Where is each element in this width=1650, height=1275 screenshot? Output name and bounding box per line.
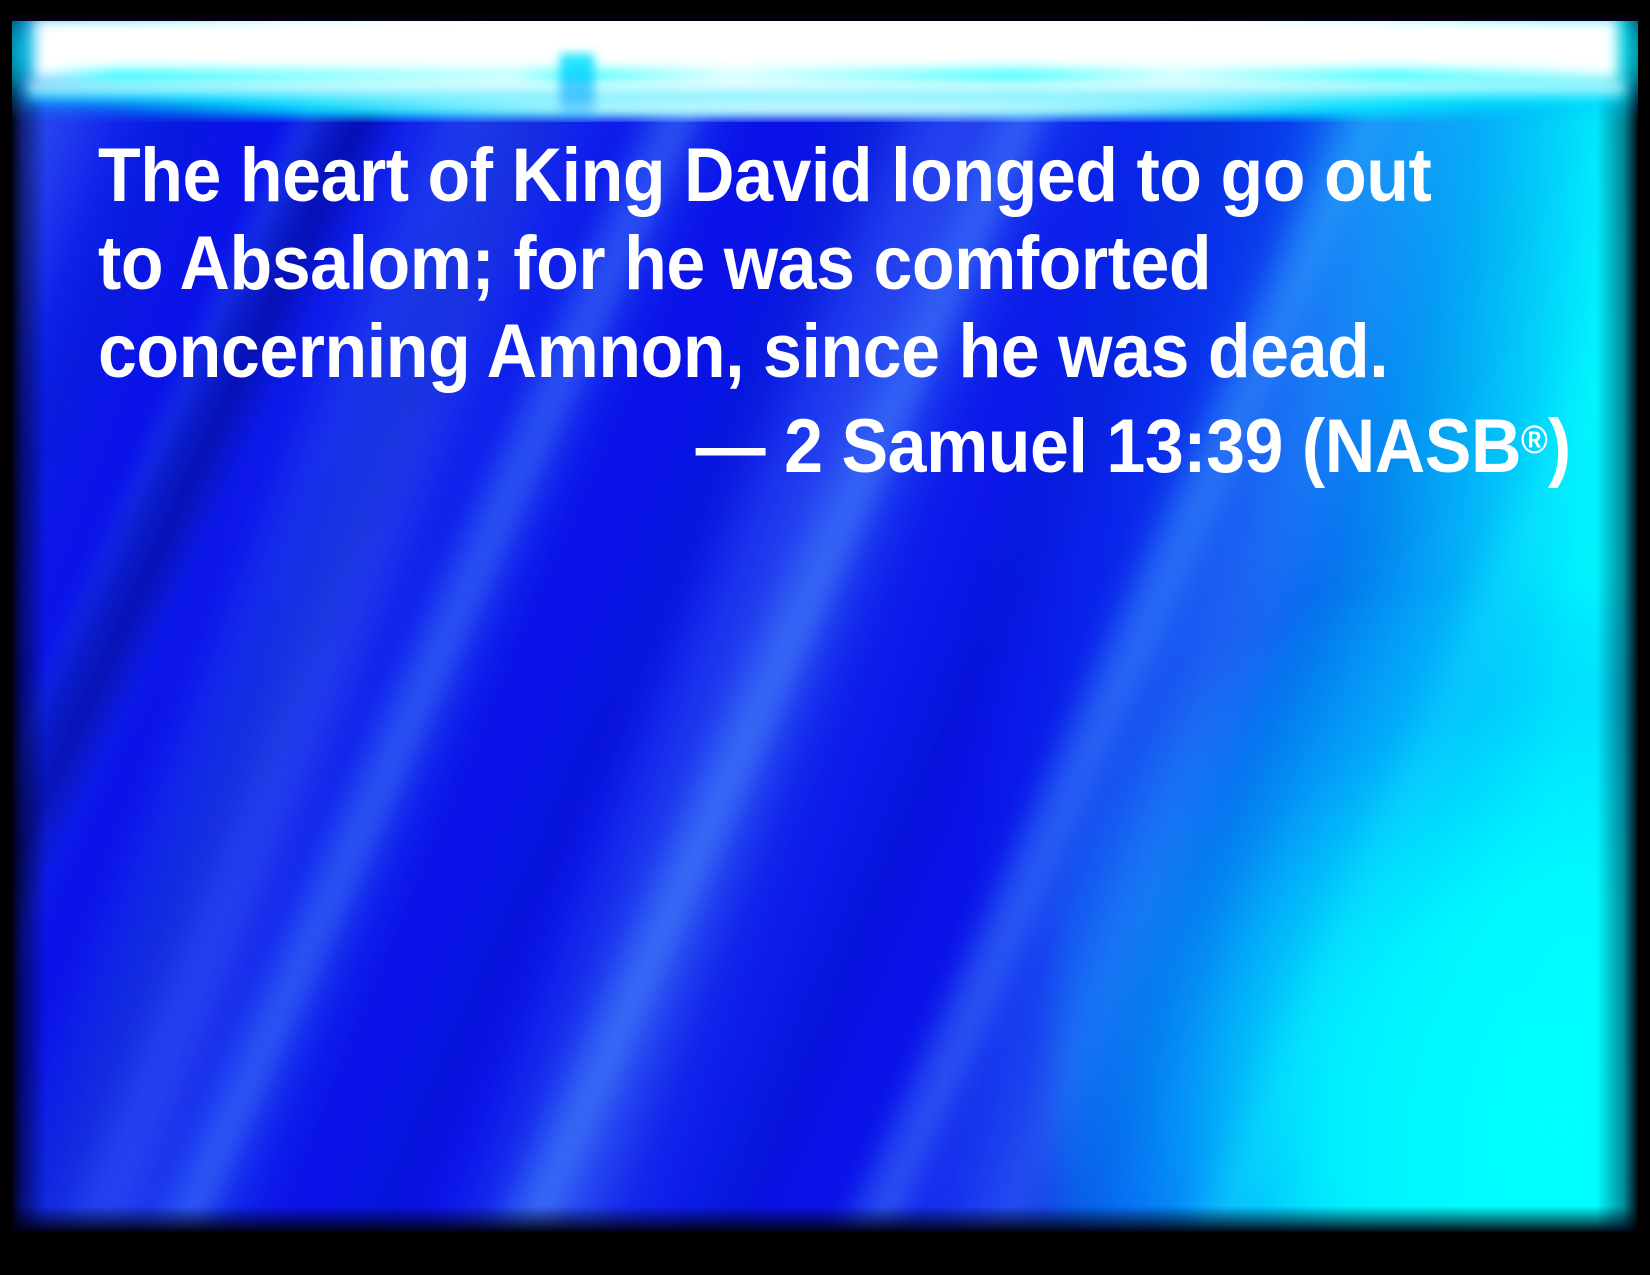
verse-attribution: — 2 Samuel 13:39 (NASB®) xyxy=(216,396,1578,491)
verse-line-2: to Absalom; for he was comforted xyxy=(98,220,1460,308)
attribution-dash: — xyxy=(696,404,765,489)
light-bar-top-rule xyxy=(12,14,1638,21)
attribution-reference: 2 Samuel 13:39 xyxy=(784,404,1283,489)
light-bar-base-glow xyxy=(28,82,1624,104)
slide-artwork-panel: The heart of King David longed to go out… xyxy=(12,14,1638,1232)
attribution-translation-open: (NASB xyxy=(1302,404,1521,489)
registered-trademark-icon: ® xyxy=(1521,418,1548,462)
bible-verse-slide: The heart of King David longed to go out… xyxy=(0,0,1650,1275)
verse-line-1: The heart of King David longed to go out xyxy=(98,132,1460,220)
attribution-translation-close: ) xyxy=(1548,404,1571,489)
top-light-bar xyxy=(12,14,1638,122)
verse-line-3: concerning Amnon, since he was dead. xyxy=(98,308,1460,396)
light-bar-notch xyxy=(560,54,594,122)
verse-text-block: The heart of King David longed to go out… xyxy=(98,132,1578,491)
